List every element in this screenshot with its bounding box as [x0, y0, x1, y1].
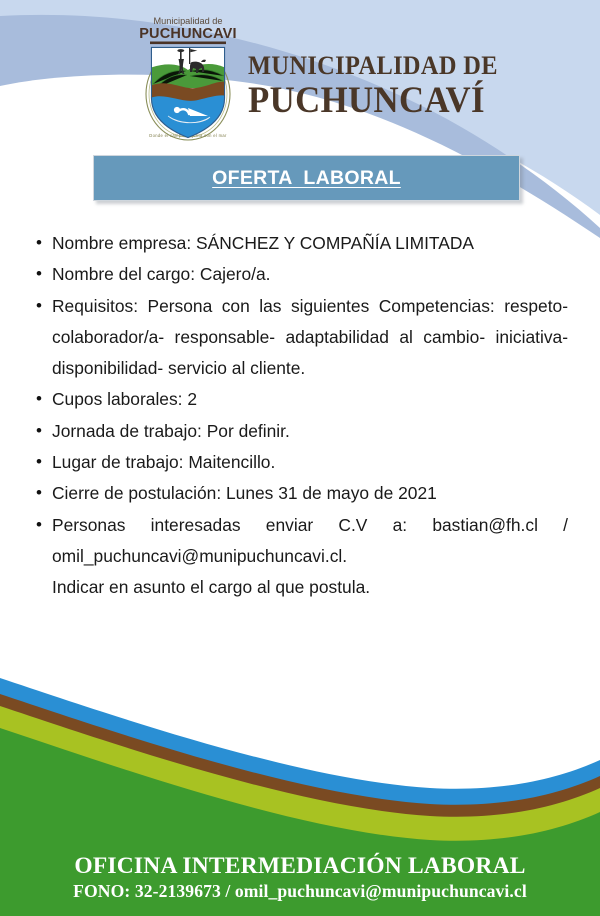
list-item: Nombre del cargo: Cajero/a.: [0, 259, 600, 290]
job-offer-poster: Municipalidad de PUCHUNCAVI Donde el cam…: [0, 0, 600, 916]
municipality-logo: Municipalidad de PUCHUNCAVI Donde el cam…: [136, 12, 240, 144]
footer-office-title: OFICINA INTERMEDIACIÓN LABORAL: [0, 853, 600, 880]
list-item: Requisitos: Persona con las siguientes C…: [0, 291, 600, 385]
list-item: Nombre empresa: SÁNCHEZ Y COMPAÑÍA LIMIT…: [0, 228, 600, 259]
footer-phone-email: FONO: 32-2139673 / omil_puchuncavi@munip…: [0, 881, 600, 902]
list-item: Jornada de trabajo: Por definir.: [0, 416, 600, 447]
list-item: Lugar de trabajo: Maitencillo.: [0, 447, 600, 478]
oferta-laboral-banner: OFERTA LABORAL: [93, 155, 520, 201]
list-item: Cupos laborales: 2: [0, 384, 600, 415]
detail-position: Nombre del cargo: Cajero/a.: [52, 264, 270, 284]
detail-deadline: Cierre de postulación: Lunes 31 de mayo …: [52, 483, 437, 503]
brand-line-2: PUCHUNCAVÍ: [248, 82, 503, 119]
svg-text:PUCHUNCAVI: PUCHUNCAVI: [139, 26, 237, 42]
detail-apply-note: Indicar en asunto el cargo al que postul…: [52, 572, 568, 603]
list-item: Cierre de postulación: Lunes 31 de mayo …: [0, 478, 600, 509]
footer-contact-block: OFICINA INTERMEDIACIÓN LABORAL FONO: 32-…: [0, 853, 600, 902]
detail-company: Nombre empresa: SÁNCHEZ Y COMPAÑÍA LIMIT…: [52, 233, 474, 253]
detail-schedule: Jornada de trabajo: Por definir.: [52, 421, 290, 441]
job-details-list: Nombre empresa: SÁNCHEZ Y COMPAÑÍA LIMIT…: [0, 228, 600, 604]
job-details-section: Nombre empresa: SÁNCHEZ Y COMPAÑÍA LIMIT…: [0, 228, 600, 604]
brand-line-1: MUNICIPALIDAD DE: [248, 52, 498, 79]
list-item: Personas interesadas enviar C.V a: basti…: [0, 510, 600, 604]
brand-wordmark: MUNICIPALIDAD DE PUCHUNCAVÍ: [248, 52, 520, 119]
svg-text:Municipalidad de: Municipalidad de: [154, 16, 223, 26]
crest-wordmark: Municipalidad de PUCHUNCAVI: [139, 16, 237, 44]
banner-title: OFERTA LABORAL: [212, 167, 401, 190]
detail-location: Lugar de trabajo: Maitencillo.: [52, 452, 275, 472]
detail-apply: Personas interesadas enviar C.V a: basti…: [52, 510, 568, 573]
detail-requirements: Requisitos: Persona con las siguientes C…: [52, 291, 568, 385]
detail-vacancies: Cupos laborales: 2: [52, 389, 197, 409]
